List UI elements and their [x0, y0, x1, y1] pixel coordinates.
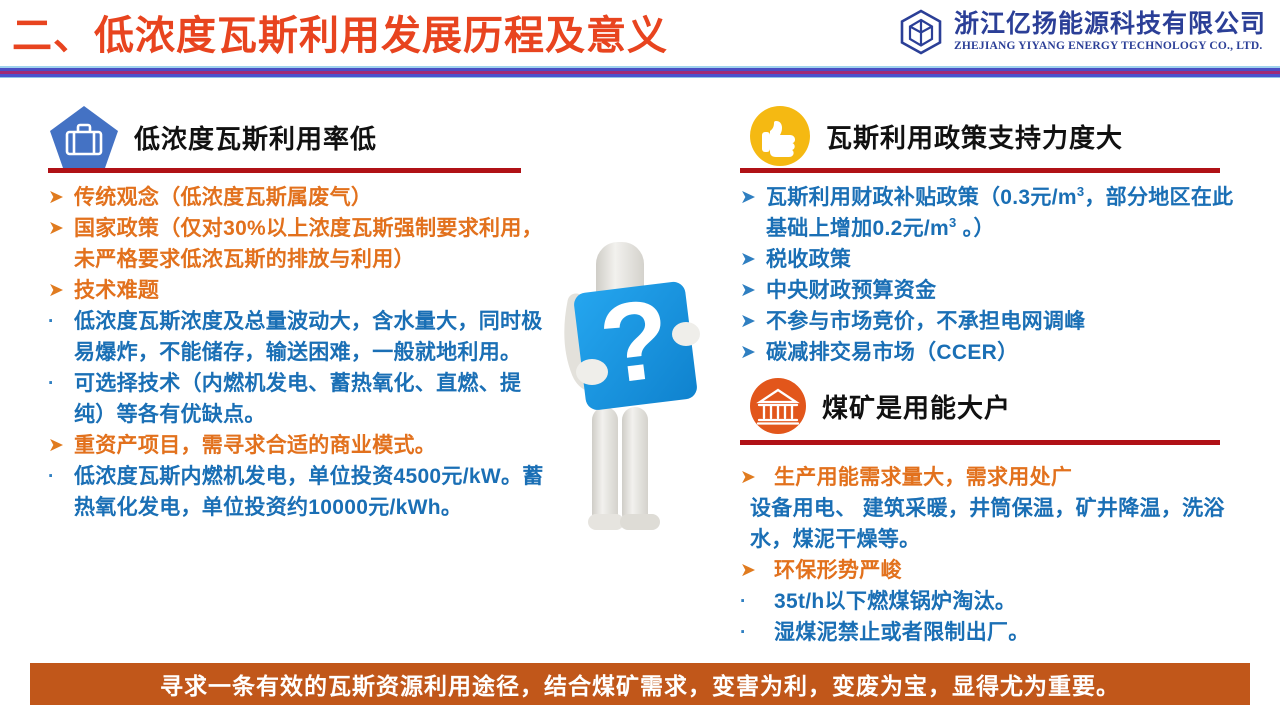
company-logo: 浙江亿扬能源科技有限公司 ZHEJIANG YIYANG ENERGY TECH…: [898, 8, 1266, 56]
slide-root: 二、低浓度瓦斯利用发展历程及意义 浙江亿扬能源科技有限公司 ZHEJIANG Y…: [0, 0, 1280, 720]
dot-bullet-icon: ·: [740, 617, 766, 648]
list-item: · 可选择技术（内燃机发电、蓄热氧化、直燃、提纯）等各有优缺点。: [48, 368, 553, 430]
dot-bullet-icon: ·: [48, 306, 74, 337]
arrow-bullet-icon: ➤: [48, 430, 74, 461]
list-item: ➤ 瓦斯利用财政补贴政策（0.3元/m3，部分地区在此基础上增加0.2元/m3 …: [740, 182, 1240, 244]
list-item-text: 低浓度瓦斯浓度及总量波动大，含水量大，同时极易爆炸，不能储存，输送困难，一般就地…: [74, 306, 553, 368]
list-item: ➤ 碳减排交易市场（CCER）: [740, 337, 1240, 368]
section-rule-policy-support: [740, 168, 1220, 173]
arrow-bullet-icon: ➤: [740, 555, 766, 586]
list-item-text: 碳减排交易市场（CCER）: [766, 337, 1240, 368]
bullet-list-low-utilization: ➤ 传统观念（低浓度瓦斯属废气） ➤ 国家政策（仅对30%以上浓度瓦斯强制要求利…: [48, 182, 553, 523]
list-item: · 35t/h以下燃煤锅炉淘汰。: [740, 586, 1245, 617]
list-item: ➤ 不参与市场竞价，不承担电网调峰: [740, 306, 1240, 337]
list-item: ➤ 税收政策: [740, 244, 1240, 275]
section-title-low-utilization: 低浓度瓦斯利用率低: [134, 119, 377, 156]
page-title: 二、低浓度瓦斯利用发展历程及意义: [12, 8, 668, 64]
dot-bullet-icon: ·: [740, 586, 766, 617]
company-name-en: ZHEJIANG YIYANG ENERGY TECHNOLOGY CO., L…: [954, 38, 1266, 54]
list-item-text: 重资产项目，需寻求合适的商业模式。: [74, 430, 553, 461]
hexagon-cube-logo-icon: [898, 8, 944, 56]
arrow-bullet-icon: ➤: [740, 462, 766, 493]
list-item-text: 瓦斯利用财政补贴政策（0.3元/m3，部分地区在此基础上增加0.2元/m3 。）: [766, 182, 1240, 244]
list-item: · 低浓度瓦斯浓度及总量波动大，含水量大，同时极易爆炸，不能储存，输送困难，一般…: [48, 306, 553, 368]
section-rule-low-utilization: [48, 168, 521, 173]
list-item: · 湿煤泥禁止或者限制出厂。: [740, 617, 1245, 648]
section-rule-coal-mine-energy: [740, 440, 1220, 445]
briefcase-pentagon-icon: [48, 104, 120, 170]
dot-bullet-icon: ·: [48, 461, 74, 492]
section-heading-low-utilization: 低浓度瓦斯利用率低: [48, 104, 377, 170]
list-item-text: 设备用电、 建筑采暖，井筒保温，矿井降温，洗浴水，煤泥干燥等。: [750, 493, 1245, 555]
arrow-bullet-icon: ➤: [740, 306, 766, 337]
list-item-text: 35t/h以下燃煤锅炉淘汰。: [766, 586, 1245, 617]
list-item-text: 低浓度瓦斯内燃机发电，单位投资4500元/kW。蓄热氧化发电，单位投资约1000…: [74, 461, 553, 523]
arrow-bullet-icon: ➤: [740, 244, 766, 275]
section-heading-policy-support: 瓦斯利用政策支持力度大: [748, 104, 1123, 168]
list-item-text: 生产用能需求量大，需求用处广: [766, 462, 1245, 493]
bullet-list-coal-mine-energy: ➤ 生产用能需求量大，需求用处广 设备用电、 建筑采暖，井筒保温，矿井降温，洗浴…: [740, 462, 1245, 648]
arrow-bullet-icon: ➤: [740, 182, 766, 213]
list-item: ➤ 中央财政预算资金: [740, 275, 1240, 306]
thumbs-up-circle-icon: [748, 104, 812, 168]
footer-banner: 寻求一条有效的瓦斯资源利用途径，结合煤矿需求，变害为利，变废为宝，显得尤为重要。: [30, 663, 1250, 705]
list-item: · 低浓度瓦斯内燃机发电，单位投资4500元/kW。蓄热氧化发电，单位投资约10…: [48, 461, 553, 523]
list-item-text: 环保形势严峻: [766, 555, 1245, 586]
person-holding-question-sign-icon: ?: [540, 232, 740, 562]
section-title-coal-mine-energy: 煤矿是用能大户: [822, 388, 1011, 425]
list-item: ➤ 传统观念（低浓度瓦斯属废气）: [48, 182, 553, 213]
list-item: ➤ 环保形势严峻: [740, 555, 1245, 586]
arrow-bullet-icon: ➤: [48, 182, 74, 213]
arrow-bullet-icon: ➤: [48, 275, 74, 306]
arrow-bullet-icon: ➤: [740, 337, 766, 368]
list-item-text: 中央财政预算资金: [766, 275, 1240, 306]
list-item: ➤ 重资产项目，需寻求合适的商业模式。: [48, 430, 553, 461]
list-item: ➤ 生产用能需求量大，需求用处广: [740, 462, 1245, 493]
bank-building-circle-icon: [748, 376, 808, 436]
list-item-text: 技术难题: [74, 275, 553, 306]
section-heading-coal-mine-energy: 煤矿是用能大户: [748, 376, 1011, 436]
list-item-text: 湿煤泥禁止或者限制出厂。: [766, 617, 1245, 648]
company-name-cn: 浙江亿扬能源科技有限公司: [954, 10, 1266, 38]
bullet-list-policy-support: ➤ 瓦斯利用财政补贴政策（0.3元/m3，部分地区在此基础上增加0.2元/m3 …: [740, 182, 1240, 368]
list-item: 设备用电、 建筑采暖，井筒保温，矿井降温，洗浴水，煤泥干燥等。: [740, 493, 1245, 555]
list-item-text: 国家政策（仅对30%以上浓度瓦斯强制要求利用，未严格要求低浓瓦斯的排放与利用）: [74, 213, 553, 275]
list-item-text: 不参与市场竞价，不承担电网调峰: [766, 306, 1240, 337]
section-title-policy-support: 瓦斯利用政策支持力度大: [826, 118, 1123, 155]
list-item-text: 传统观念（低浓度瓦斯属废气）: [74, 182, 553, 213]
list-item-text: 税收政策: [766, 244, 1240, 275]
arrow-bullet-icon: ➤: [48, 213, 74, 244]
list-item: ➤ 国家政策（仅对30%以上浓度瓦斯强制要求利用，未严格要求低浓瓦斯的排放与利用…: [48, 213, 553, 275]
list-item-text: 可选择技术（内燃机发电、蓄热氧化、直燃、提纯）等各有优缺点。: [74, 368, 553, 430]
list-item: ➤ 技术难题: [48, 275, 553, 306]
slide-header: 二、低浓度瓦斯利用发展历程及意义 浙江亿扬能源科技有限公司 ZHEJIANG Y…: [0, 0, 1280, 78]
header-divider: [0, 66, 1280, 78]
arrow-bullet-icon: ➤: [740, 275, 766, 306]
footer-text: 寻求一条有效的瓦斯资源利用途径，结合煤矿需求，变害为利，变废为宝，显得尤为重要。: [160, 667, 1120, 701]
dot-bullet-icon: ·: [48, 368, 74, 399]
